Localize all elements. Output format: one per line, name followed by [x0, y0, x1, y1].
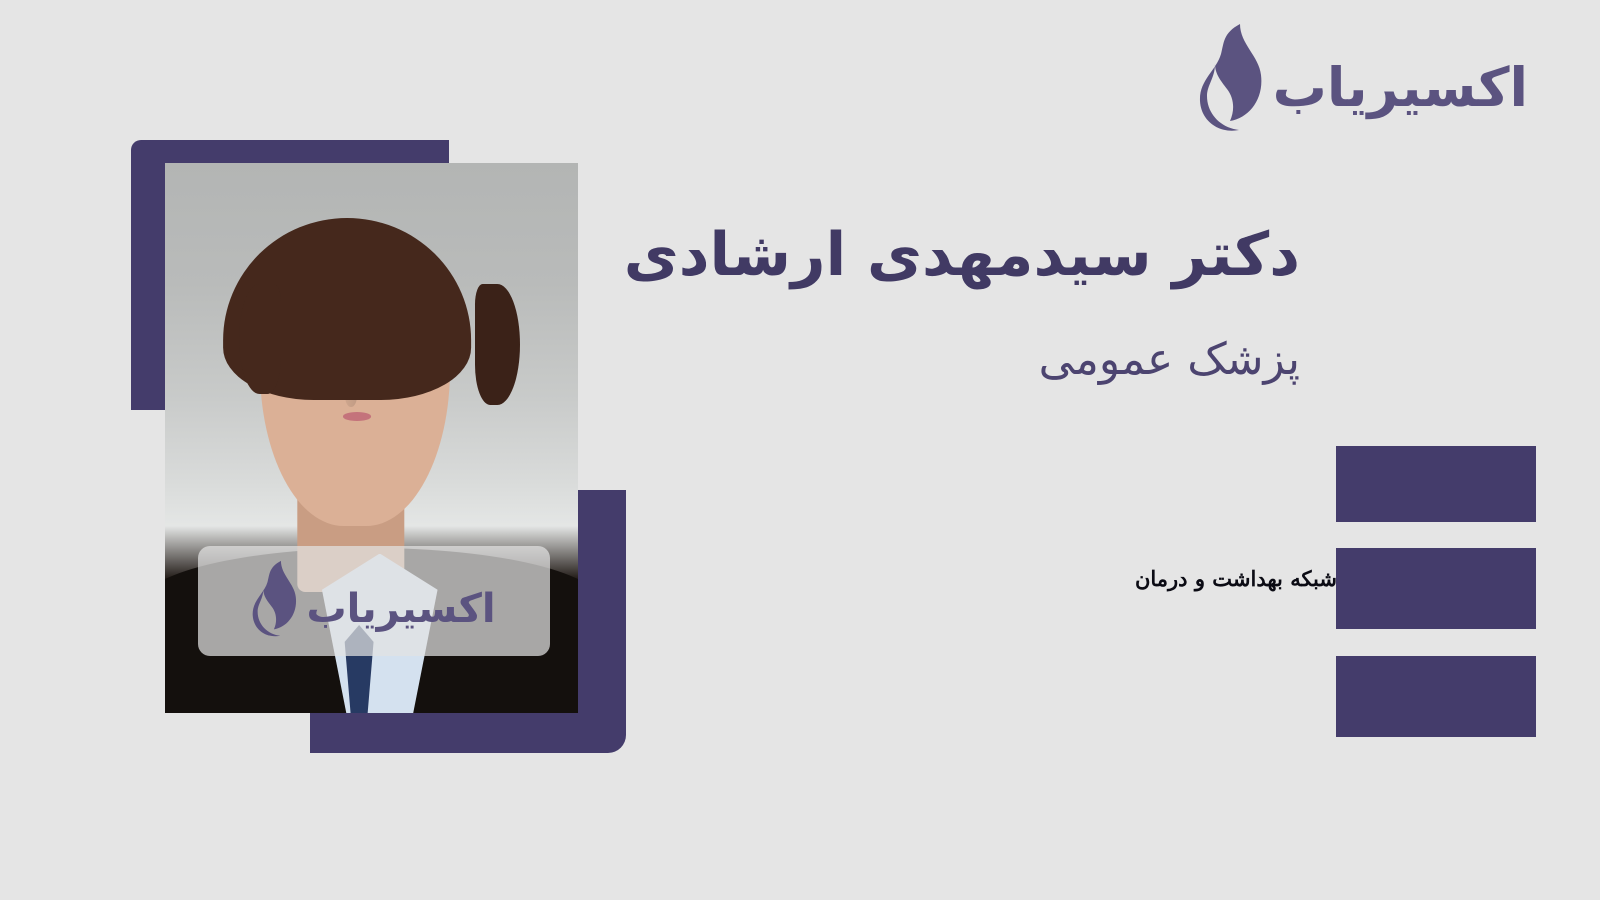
- watermark-text: اکسیریاب: [306, 586, 495, 632]
- portrait-hair-right: [475, 284, 520, 405]
- doctor-specialty: پزشک عمومی: [1039, 332, 1300, 387]
- flame-icon: [1199, 22, 1267, 134]
- network-label: شبکه بهداشت و درمان: [1135, 566, 1337, 591]
- decor-bar: [1336, 548, 1536, 629]
- decor-bar-group: [1336, 0, 1568, 900]
- photo-watermark: اکسیریاب: [198, 546, 550, 656]
- portrait-mouth: [343, 412, 371, 421]
- decor-bar: [1336, 446, 1536, 522]
- decor-bar: [1336, 656, 1536, 737]
- flame-icon: [252, 559, 300, 643]
- doctor-photo: اکسیریاب: [165, 163, 578, 713]
- profile-card-canvas: اکسیریاب: [0, 0, 1600, 900]
- portrait-hair-left: [239, 284, 280, 394]
- doctor-name: دکتر سیدمهدی ارشادی: [624, 222, 1300, 288]
- photo-block: اکسیریاب: [0, 0, 700, 900]
